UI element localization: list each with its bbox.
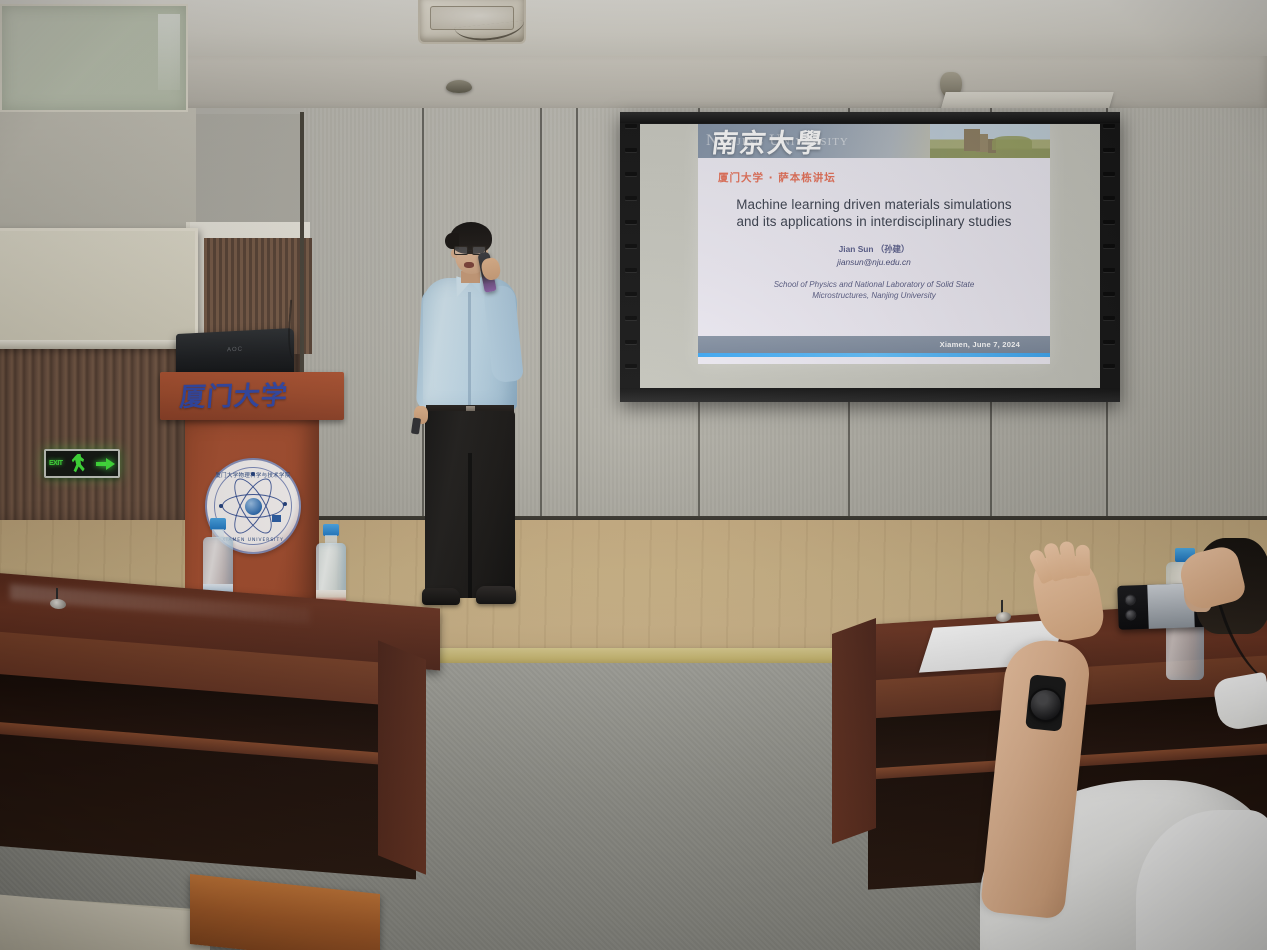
podium-top: 厦门大学: [160, 372, 344, 420]
wall-panel: [1108, 108, 1267, 528]
ceiling-sensor-icon: [446, 80, 472, 93]
camera-lens-icon: [1125, 609, 1136, 620]
slide-footer-pad: [698, 357, 1050, 364]
projection-screen: Nanjing University 南京大學 厦门大学 · 萨本栋讲坛 Mac…: [620, 112, 1120, 402]
screen-casing-top: [620, 112, 1120, 123]
camera-lens-icon: [1125, 594, 1136, 605]
emblem-dot: [283, 502, 287, 506]
monitor-brand-label: AOC: [227, 347, 243, 354]
ceiling: [0, 0, 1267, 60]
speaker: [398, 222, 538, 612]
running-figure-icon: [72, 454, 87, 473]
table-side-panel: [378, 640, 426, 874]
screen-tension-tabs-left: [625, 124, 637, 388]
slide-body: 厦门大学 · 萨本栋讲坛 Machine learning driven mat…: [698, 158, 1050, 336]
wall-board: [0, 4, 188, 112]
emblem-nucleus: [245, 498, 262, 515]
presentation-slide: Nanjing University 南京大學 厦门大学 · 萨本栋讲坛 Mac…: [698, 124, 1050, 364]
audience-left-hand: [1029, 549, 1107, 645]
table-side-panel: [832, 618, 876, 844]
campus-photo-image: [930, 124, 1050, 158]
audience-member: [980, 530, 1267, 950]
slide-footer-band: Xiamen, June 7, 2024: [698, 336, 1050, 353]
emblem-dot: [251, 472, 255, 476]
slide-title: Machine learning driven materials simula…: [712, 196, 1036, 230]
speaker-mouth: [464, 262, 474, 268]
wall-panel: [542, 108, 578, 528]
slide-footer-text: Xiamen, June 7, 2024: [940, 340, 1020, 349]
audience-collar: [1212, 672, 1267, 733]
slide-header: Nanjing University 南京大學: [698, 124, 1050, 158]
screen-casing-bottom: [620, 388, 1120, 402]
speaker-shirt-placket: [468, 292, 471, 410]
slide-footer: Xiamen, June 7, 2024: [698, 336, 1050, 364]
slide-affiliation: School of Physics and National Laborator…: [712, 279, 1036, 301]
exit-sign: EXIT: [44, 449, 120, 478]
lecture-hall-photo: EXIT Nanjing University 南京大學 厦门大学 · 萨本栋讲…: [0, 0, 1267, 950]
slide-title-line1: Machine learning driven materials simula…: [712, 196, 1036, 213]
screen-tension-tabs-right: [1103, 124, 1115, 388]
upper-left-wall: [0, 108, 196, 236]
presenter-remote-icon: [411, 418, 421, 435]
wall-board-frame: [0, 228, 198, 348]
slide-affiliation-line2: Microstructures, Nanjing University: [712, 290, 1036, 301]
speaker-trousers: [425, 411, 515, 598]
podium-university-logo: 厦门大学: [178, 375, 289, 414]
speaker-shoe-right: [476, 586, 516, 604]
exit-sign-label: EXIT: [49, 460, 63, 467]
emblem-square: [272, 515, 281, 522]
wristwatch-icon: [1022, 680, 1070, 724]
screen-surface: Nanjing University 南京大學 厦门大学 · 萨本栋讲坛 Mac…: [640, 124, 1100, 388]
slide-forum-label: 厦门大学 · 萨本栋讲坛: [718, 170, 1036, 185]
slide-author: Jian Sun （孙建）: [712, 243, 1036, 255]
front-table-left: [0, 590, 440, 890]
slide-title-line2: and its applications in interdisciplinar…: [712, 213, 1036, 230]
wall-board-ledge: [0, 340, 192, 349]
slide-university-cn: 南京大學: [710, 124, 827, 158]
emblem-dot: [219, 504, 223, 508]
slide-affiliation-line1: School of Physics and National Laborator…: [712, 279, 1036, 290]
arrow-right-icon: [96, 458, 115, 470]
slide-email: jiansun@nju.edu.cn: [712, 257, 1036, 267]
